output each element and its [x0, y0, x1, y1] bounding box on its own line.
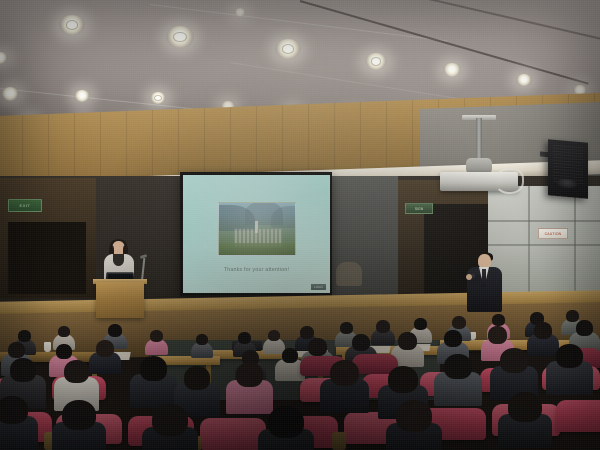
seat — [200, 418, 266, 450]
slide-logo: LOGO — [311, 284, 326, 290]
loudspeaker-icon — [548, 139, 588, 198]
ceiling-light-ring — [282, 44, 295, 54]
audience-head — [236, 362, 263, 387]
slide-photo-foreground — [219, 243, 295, 255]
audience-head — [576, 320, 593, 336]
audience-head — [56, 344, 72, 359]
audience-head — [492, 314, 505, 326]
audience-head — [268, 330, 280, 341]
audience-head — [330, 360, 359, 386]
ceiling-light — [443, 63, 461, 77]
audience-head — [10, 358, 36, 382]
audience-head — [58, 326, 70, 337]
stage-chair — [336, 262, 362, 286]
audience-head — [414, 318, 427, 330]
ceiling-light-ring — [371, 57, 382, 65]
seat-armrest — [332, 432, 346, 450]
presenter-neckline — [113, 254, 124, 266]
audience-head — [534, 322, 552, 339]
ceiling-light — [59, 15, 85, 35]
audience-head — [500, 348, 528, 373]
wall-seam — [488, 220, 600, 222]
podium — [96, 282, 144, 318]
audience-head — [18, 330, 31, 342]
side-sign: SIGN — [405, 203, 433, 214]
audience-head — [282, 348, 298, 363]
projector-pole — [476, 118, 482, 162]
audience-head — [308, 338, 327, 356]
audience-head — [398, 332, 417, 350]
red-wall-sign: CAUTION — [538, 228, 568, 239]
audience-head — [108, 324, 122, 337]
audience-head — [62, 400, 96, 430]
lecture-hall-photo: EXIT SIGN CAUTION Thanks for your at — [0, 0, 600, 450]
audience-head — [508, 392, 542, 422]
ceiling-light-ring — [154, 95, 162, 101]
audience-head — [444, 330, 462, 347]
wall-seam — [488, 244, 600, 246]
ceiling-light — [166, 26, 194, 48]
audience-head — [300, 326, 314, 339]
ceiling-light-ring — [66, 20, 79, 30]
audience-head — [96, 340, 114, 357]
ceiling-light-ring — [173, 32, 186, 42]
audience-head — [268, 406, 304, 438]
audience-head — [150, 330, 163, 342]
audience-head — [388, 366, 418, 393]
audience-head — [8, 342, 25, 358]
audience-head — [452, 316, 466, 329]
audience-head — [396, 400, 432, 432]
slide-photo — [218, 202, 296, 256]
projector-cables — [494, 168, 524, 194]
audience-head — [488, 326, 507, 344]
seat — [556, 400, 600, 432]
audience-head — [376, 320, 390, 333]
audience-head — [196, 334, 208, 345]
speaker-hand — [466, 274, 472, 280]
audience-head — [566, 310, 579, 322]
audience-head — [556, 344, 583, 368]
audience-head — [444, 354, 472, 379]
left-wall-recess — [8, 222, 86, 294]
speaker-tie — [482, 269, 486, 287]
ceiling-light — [1, 87, 19, 101]
audience-head — [0, 396, 28, 424]
audience-head — [140, 356, 167, 381]
slide-closing-text: Thanks for your attention! — [183, 267, 330, 273]
projection-screen: Thanks for your attention! LOGO — [183, 175, 330, 293]
audience-head — [340, 322, 353, 334]
audience-head — [152, 404, 188, 436]
audience-head — [64, 360, 89, 383]
audience-head — [352, 334, 370, 351]
audience-head — [238, 332, 251, 344]
cup — [44, 342, 51, 352]
ceiling-light — [365, 53, 387, 70]
audience-head — [184, 366, 210, 390]
ceiling-light — [275, 39, 301, 59]
exit-sign: EXIT — [8, 199, 42, 212]
standing-speaker — [466, 252, 504, 312]
